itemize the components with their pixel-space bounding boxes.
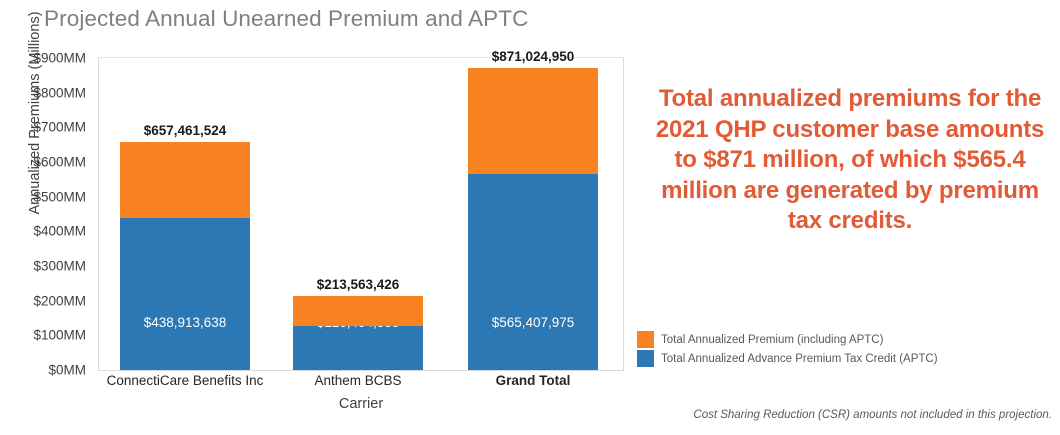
bar-segment-premium[interactable] bbox=[120, 142, 250, 218]
bar-group[interactable]: $126,494,338$213,563,426 bbox=[293, 296, 423, 370]
x-axis-title: Carrier bbox=[99, 396, 623, 412]
bar-segment-premium[interactable] bbox=[293, 296, 423, 326]
bar-segment-premium[interactable] bbox=[468, 68, 598, 174]
legend-item-label: Total Annualized Advance Premium Tax Cre… bbox=[661, 353, 938, 365]
chart-legend: Total Annualized Premium (including APTC… bbox=[637, 330, 938, 368]
y-axis-tick-label: $500MM bbox=[0, 189, 86, 204]
legend-swatch-icon bbox=[637, 350, 654, 367]
callout-text: Total annualized premiums for the 2021 Q… bbox=[651, 84, 1049, 237]
bar-group[interactable]: $565,407,975$871,024,950 bbox=[468, 68, 598, 370]
bar-value-label-aptc: $438,913,638 bbox=[120, 315, 250, 330]
y-axis-tick-label: $100MM bbox=[0, 328, 86, 343]
legend-item[interactable]: Total Annualized Advance Premium Tax Cre… bbox=[637, 349, 938, 368]
x-axis-tick-labels: ConnectiCare Benefits IncAnthem BCBSGran… bbox=[99, 373, 623, 393]
bar-series-layer: $438,913,638$657,461,524$126,494,338$213… bbox=[99, 58, 623, 370]
bar-total-label: $657,461,524 bbox=[90, 123, 280, 138]
bar-group[interactable]: $438,913,638$657,461,524 bbox=[120, 142, 250, 370]
y-axis-tick-label: $200MM bbox=[0, 293, 86, 308]
y-axis-tick-label: $0MM bbox=[0, 363, 86, 378]
y-axis-tick-label: $300MM bbox=[0, 259, 86, 274]
y-axis-tick-label: $600MM bbox=[0, 155, 86, 170]
y-axis-tick-labels: $0MM$100MM$200MM$300MM$400MM$500MM$600MM… bbox=[0, 0, 92, 435]
bar-segment-aptc[interactable]: $565,407,975 bbox=[468, 174, 598, 370]
x-axis-tick-label: Grand Total bbox=[438, 373, 628, 388]
bar-total-label: $871,024,950 bbox=[438, 49, 628, 64]
legend-item-label: Total Annualized Premium (including APTC… bbox=[661, 334, 883, 346]
y-axis-tick-label: $400MM bbox=[0, 224, 86, 239]
x-axis-tick-label: Anthem BCBS bbox=[263, 373, 453, 388]
x-axis-tick-label: ConnectiCare Benefits Inc bbox=[90, 373, 280, 388]
legend-item[interactable]: Total Annualized Premium (including APTC… bbox=[637, 330, 938, 349]
chart-container: Annualized Premiums (Millions) $0MM$100M… bbox=[0, 0, 640, 435]
bar-segment-aptc[interactable]: $126,494,338 bbox=[293, 326, 423, 370]
bar-total-label: $213,563,426 bbox=[263, 277, 453, 292]
legend-swatch-icon bbox=[637, 331, 654, 348]
bar-value-label-aptc: $565,407,975 bbox=[468, 315, 598, 330]
y-axis-tick-label: $800MM bbox=[0, 85, 86, 100]
y-axis-tick-label: $900MM bbox=[0, 51, 86, 66]
bar-segment-aptc[interactable]: $438,913,638 bbox=[120, 218, 250, 370]
footnote: Cost Sharing Reduction (CSR) amounts not… bbox=[660, 409, 1052, 421]
y-axis-tick-label: $700MM bbox=[0, 120, 86, 135]
